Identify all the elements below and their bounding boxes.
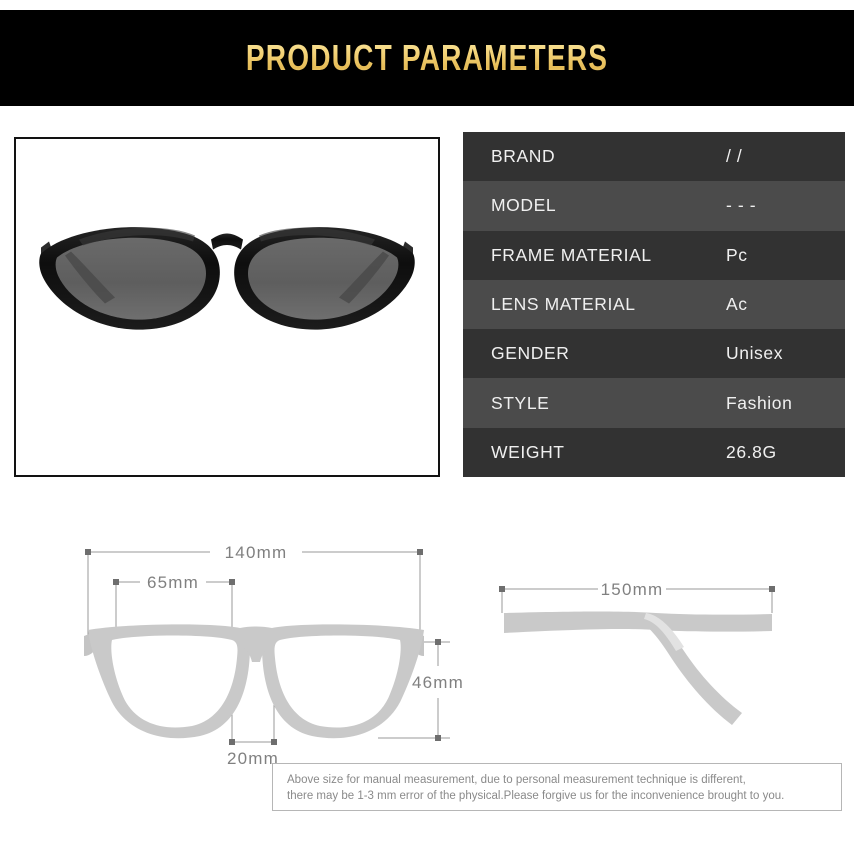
table-row: WEIGHT 26.8G — [463, 428, 845, 477]
spec-label: MODEL — [491, 195, 726, 216]
dimension-label-lens-height: 46mm — [412, 673, 464, 692]
table-row: MODEL - - - — [463, 181, 845, 230]
spec-label: FRAME MATERIAL — [491, 245, 726, 266]
spec-label: STYLE — [491, 393, 726, 414]
product-parameters-page: PRODUCT PARAMETERS — [0, 0, 854, 854]
table-row: GENDER Unisex — [463, 329, 845, 378]
spec-table: BRAND / / MODEL - - - FRAME MATERIAL Pc … — [463, 132, 845, 477]
spec-value: - - - — [726, 195, 756, 216]
table-row: BRAND / / — [463, 132, 845, 181]
spec-label: LENS MATERIAL — [491, 294, 726, 315]
dimension-diagram-front: 140mm 65mm 20mm 46mm — [60, 530, 480, 765]
disclaimer-line-1: Above size for manual measurement, due t… — [287, 772, 829, 788]
product-photo-sunglasses — [27, 190, 427, 425]
spec-value: / / — [726, 146, 742, 167]
table-row: FRAME MATERIAL Pc — [463, 231, 845, 280]
dimension-label-total-width: 140mm — [225, 543, 288, 562]
spec-label: BRAND — [491, 146, 726, 167]
spec-value: Unisex — [726, 343, 783, 364]
spec-value: Pc — [726, 245, 748, 266]
header-banner: PRODUCT PARAMETERS — [0, 10, 854, 106]
product-photo-frame — [14, 137, 440, 477]
spec-value: Fashion — [726, 393, 792, 414]
spec-value: 26.8G — [726, 442, 777, 463]
spec-label: WEIGHT — [491, 442, 726, 463]
dimension-diagram-temple: 150mm — [470, 565, 850, 735]
spec-value: Ac — [726, 294, 748, 315]
dimension-label-lens-width: 65mm — [147, 573, 199, 592]
dimension-label-temple-length: 150mm — [601, 580, 664, 599]
page-title: PRODUCT PARAMETERS — [94, 36, 760, 80]
disclaimer-box: Above size for manual measurement, due t… — [272, 763, 842, 811]
table-row: STYLE Fashion — [463, 378, 845, 427]
disclaimer-line-2: there may be 1-3 mm error of the physica… — [287, 788, 829, 804]
spec-label: GENDER — [491, 343, 726, 364]
table-row: LENS MATERIAL Ac — [463, 280, 845, 329]
